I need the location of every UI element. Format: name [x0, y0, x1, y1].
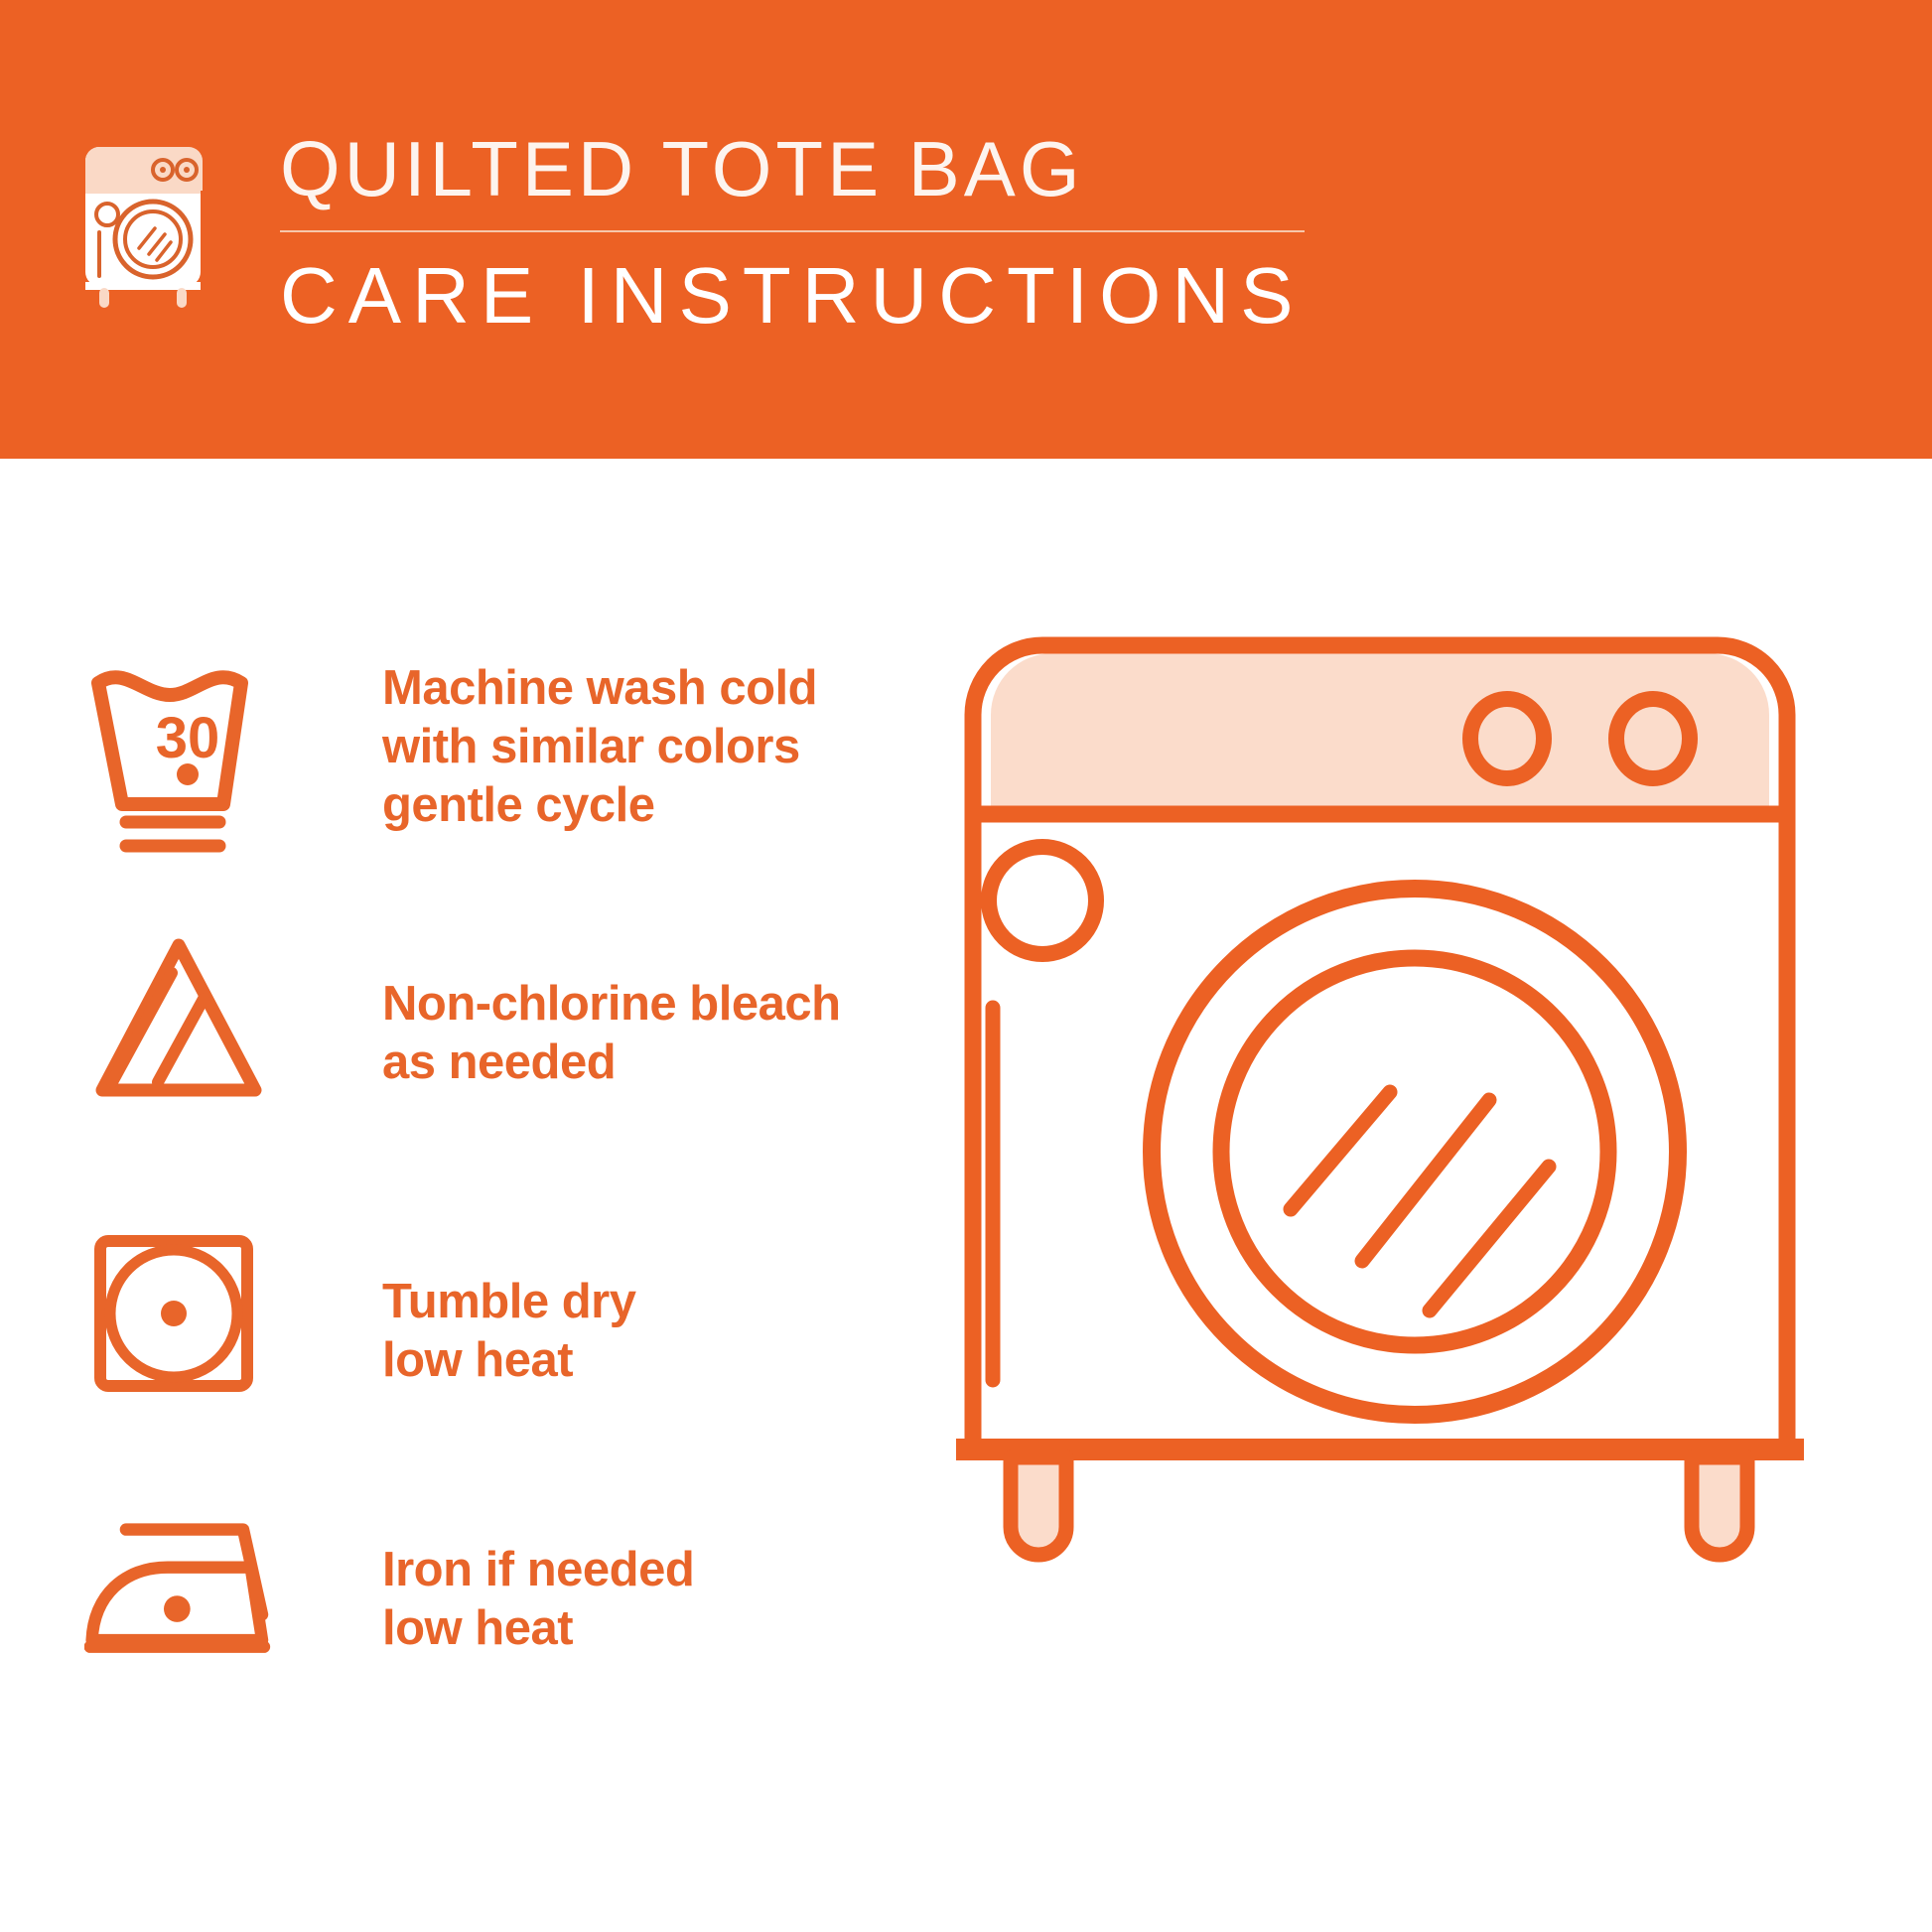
- page-title: QUILTED TOTE BAG: [280, 121, 1312, 216]
- care-line: Iron if needed: [382, 1541, 694, 1599]
- care-line: with similar colors: [382, 718, 817, 776]
- care-line: low heat: [382, 1331, 635, 1390]
- tumble-dry-low-icon: [84, 1231, 283, 1395]
- shine-line-3: [1430, 1167, 1549, 1311]
- care-text-bleach: Non-chlorine bleach as needed: [382, 931, 841, 1092]
- leg-right: [1692, 1457, 1747, 1555]
- title-divider: [280, 230, 1305, 232]
- care-line: Non-chlorine bleach: [382, 975, 841, 1034]
- shine-line-1: [1291, 1092, 1390, 1209]
- iron-low-heat-icon: [84, 1499, 283, 1663]
- care-line: low heat: [382, 1599, 694, 1658]
- non-chlorine-bleach-triangle-icon: [84, 931, 283, 1105]
- machine-wash-30-icon: 30: [84, 655, 283, 854]
- control-panel: [991, 653, 1769, 814]
- washing-machine-icon: [77, 137, 216, 311]
- care-row-machine-wash: 30 Machine wash cold with similar colors…: [0, 655, 953, 854]
- care-line: Machine wash cold: [382, 659, 817, 718]
- care-line: gentle cycle: [382, 776, 817, 835]
- care-text-iron: Iron if needed low heat: [382, 1499, 694, 1658]
- care-row-tumble-dry: Tumble dry low heat: [0, 1231, 953, 1395]
- drum-circle: [1221, 958, 1608, 1345]
- door-ring: [1152, 889, 1678, 1415]
- indicator-light: [989, 847, 1096, 954]
- washing-machine-illustration: [953, 625, 1866, 1618]
- svg-text:30: 30: [156, 706, 220, 770]
- care-line: as needed: [382, 1034, 841, 1092]
- care-line: Tumble dry: [382, 1273, 635, 1331]
- care-row-iron: Iron if needed low heat: [0, 1499, 953, 1663]
- header-title-block: QUILTED TOTE BAG CARE INSTRUCTIONS: [280, 121, 1312, 344]
- page-subtitle: CARE INSTRUCTIONS: [280, 248, 1312, 344]
- shine-line-2: [1362, 1100, 1489, 1261]
- care-row-bleach: Non-chlorine bleach as needed: [0, 931, 953, 1105]
- page-header: QUILTED TOTE BAG CARE INSTRUCTIONS: [0, 0, 1932, 459]
- care-text-machine-wash: Machine wash cold with similar colors ge…: [382, 655, 817, 835]
- care-text-tumble-dry: Tumble dry low heat: [382, 1231, 635, 1390]
- leg-left: [1011, 1457, 1066, 1555]
